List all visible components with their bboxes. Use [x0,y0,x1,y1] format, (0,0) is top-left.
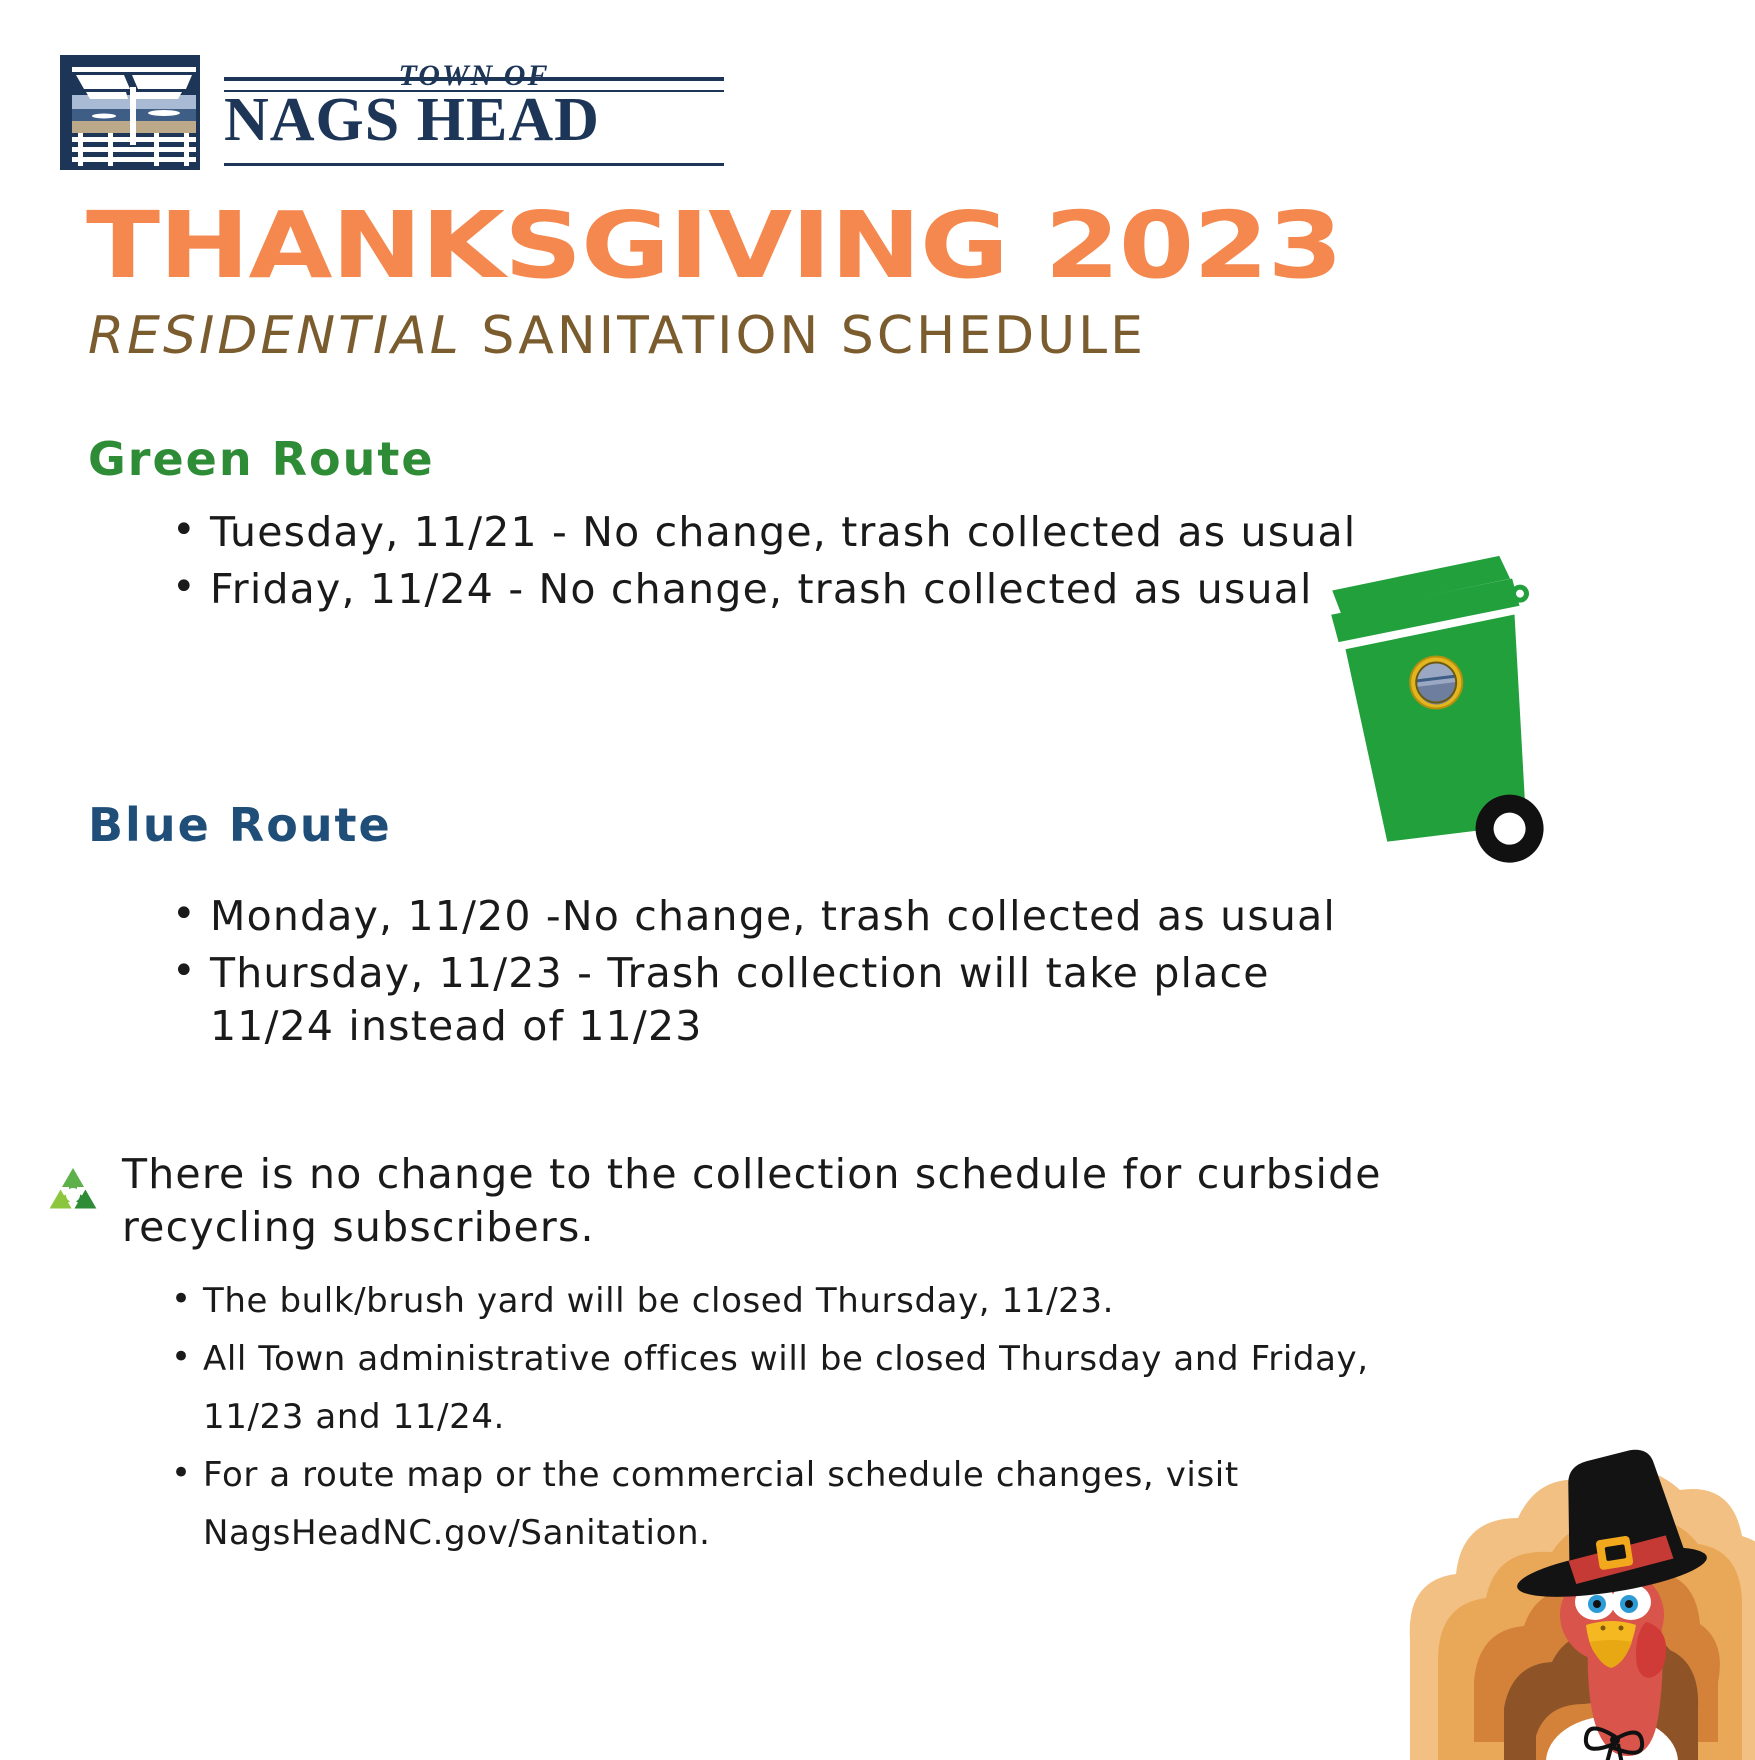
logo-wordmark: TOWN OF NAGS HEAD [224,55,724,170]
list-item: For a route map or the commercial schedu… [203,1446,1433,1562]
recycling-note: There is no change to the collection sch… [40,1148,1460,1254]
green-route-list: Tuesday, 11/21 - No change, trash collec… [150,506,1370,620]
notices-list: The bulk/brush yard will be closed Thurs… [155,1272,1433,1562]
subtitle-italic-word: RESIDENTIAL [88,306,462,366]
blue-route-list: Monday, 11/20 -No change, trash collecte… [150,890,1370,1057]
logo-town-of-text: TOWN OF [224,59,724,93]
list-item: Tuesday, 11/21 - No change, trash collec… [210,506,1370,559]
list-item: The bulk/brush yard will be closed Thurs… [203,1272,1433,1330]
pilgrim-turkey-icon [1400,1310,1755,1760]
blue-route-heading: Blue Route [88,798,392,852]
list-item: Monday, 11/20 -No change, trash collecte… [210,890,1370,943]
recycle-icon [40,1162,106,1228]
logo-name-text: NAGS HEAD [224,88,724,152]
green-route-heading: Green Route [88,432,435,486]
town-logo: TOWN OF NAGS HEAD [60,55,760,175]
green-trash-bin-icon [1290,555,1580,905]
list-item: All Town administrative offices will be … [203,1330,1433,1446]
page-subtitle: RESIDENTIAL SANITATION SCHEDULE [88,305,1146,367]
pier-gazebo-icon [60,55,200,170]
list-item: Friday, 11/24 - No change, trash collect… [210,563,1370,616]
recycling-note-text: There is no change to the collection sch… [122,1148,1460,1254]
page-title: THANKSGIVING 2023 [86,196,1342,296]
list-item: Thursday, 11/23 - Trash collection will … [210,947,1370,1053]
subtitle-rest: SANITATION SCHEDULE [481,306,1146,366]
logo-rule-bottom [224,163,724,166]
